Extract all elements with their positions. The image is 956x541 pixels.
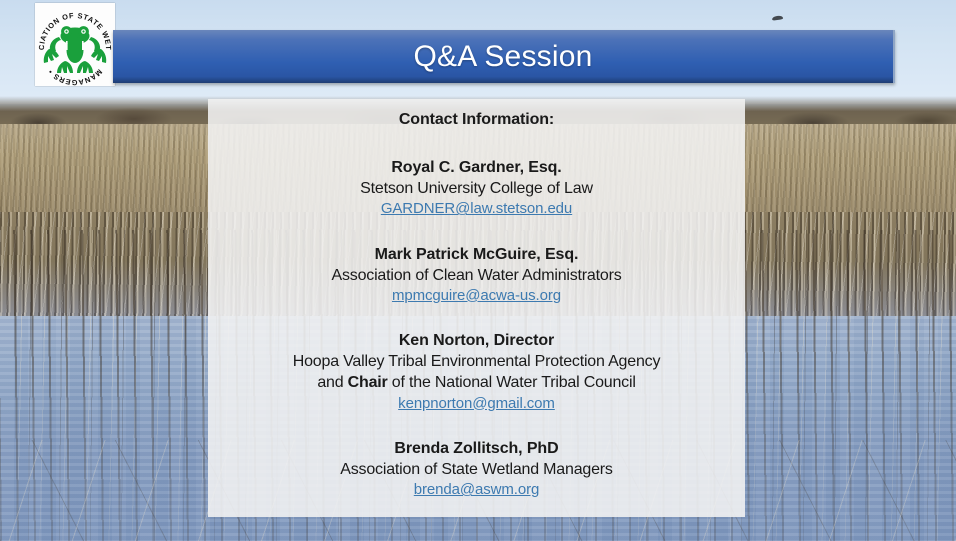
page-title: Q&A Session <box>414 40 593 74</box>
contact-block-norton: Ken Norton, Director Hoopa Valley Tribal… <box>222 330 731 414</box>
contact-organization: Hoopa Valley Tribal Environmental Protec… <box>222 351 731 372</box>
contact-organization: Association of State Wetland Managers <box>222 459 731 480</box>
contact-information-panel: Contact Information: Royal C. Gardner, E… <box>208 99 745 517</box>
contact-email-link[interactable]: kenpnorton@gmail.com <box>398 394 555 414</box>
contact-organization: Stetson University College of Law <box>222 178 731 199</box>
contact-email-link[interactable]: GARDNER@law.stetson.edu <box>381 199 572 219</box>
contact-organization-line2: and Chair of the National Water Tribal C… <box>222 372 731 393</box>
contact-block-zollitsch: Brenda Zollitsch, PhD Association of Sta… <box>222 438 731 501</box>
org-line2-bold: Chair <box>348 374 388 391</box>
contact-email-link[interactable]: brenda@aswm.org <box>414 480 539 500</box>
contact-name: Brenda Zollitsch, PhD <box>222 438 731 459</box>
org-line2-suffix: of the National Water Tribal Council <box>388 374 636 391</box>
contact-name: Ken Norton, Director <box>222 330 731 351</box>
org-line2-prefix: and <box>317 374 347 391</box>
contact-block-gardner: Royal C. Gardner, Esq. Stetson Universit… <box>222 157 731 220</box>
panel-heading: Contact Information: <box>222 111 731 129</box>
slide-title-banner: Q&A Session <box>113 30 895 83</box>
contact-organization: Association of Clean Water Administrator… <box>222 265 731 286</box>
contact-email-link[interactable]: mpmcguire@acwa-us.org <box>392 286 561 306</box>
aswm-logo: ASSOCIATION OF STATE WETLAND MANAGERS • <box>35 3 115 86</box>
aswm-frog-logo-icon: ASSOCIATION OF STATE WETLAND MANAGERS • <box>35 3 115 86</box>
presentation-slide: ASSOCIATION OF STATE WETLAND MANAGERS • <box>0 0 956 541</box>
contact-name: Mark Patrick McGuire, Esq. <box>222 244 731 265</box>
contact-block-mcguire: Mark Patrick McGuire, Esq. Association o… <box>222 244 731 307</box>
contact-name: Royal C. Gardner, Esq. <box>222 157 731 178</box>
